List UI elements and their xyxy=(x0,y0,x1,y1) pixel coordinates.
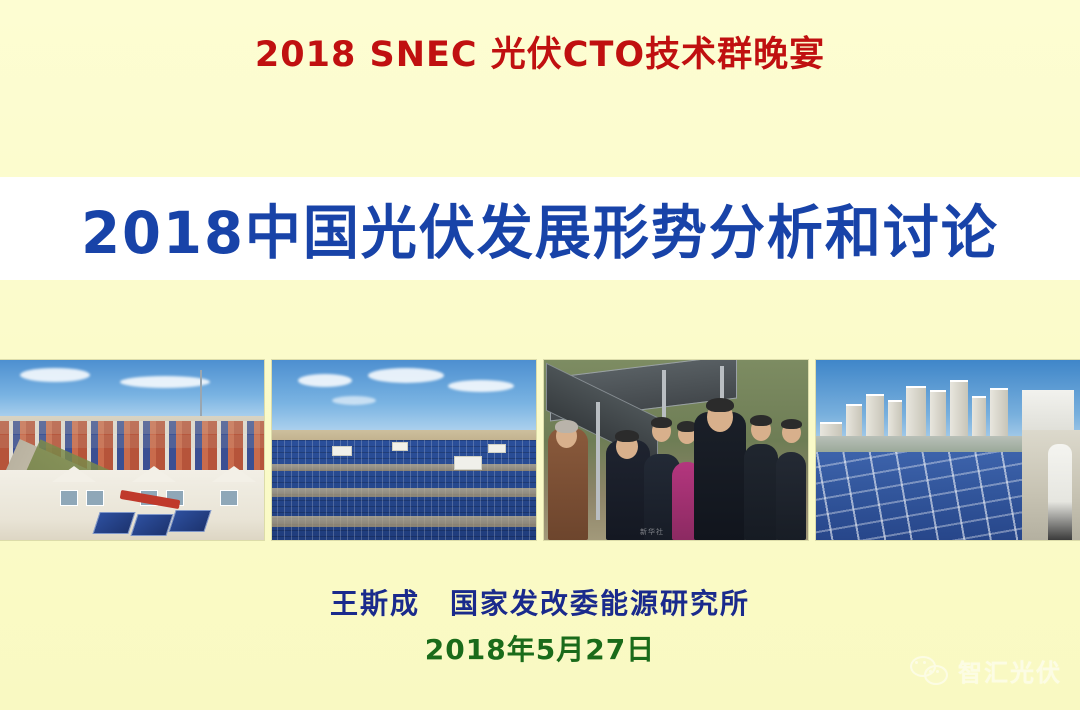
person-hair xyxy=(750,415,772,426)
bubble-dot xyxy=(923,661,926,664)
presentation-slide: 2018 SNEC 光伏CTO技术群晚宴 2018中国光伏发展形势分析和讨论 xyxy=(0,0,1080,710)
inverter-shed xyxy=(488,444,506,453)
service-row xyxy=(272,516,536,527)
presenter-line: 王斯成 国家发改委能源研究所 xyxy=(0,582,1080,622)
roof-row xyxy=(0,421,264,435)
photo-inner-watermark: 新华社 xyxy=(640,527,664,537)
main-title-band: 2018中国光伏发展形势分析和讨论 xyxy=(0,177,1080,280)
inverter-shed xyxy=(332,446,352,456)
cloud-shape xyxy=(120,376,210,388)
wechat-bubble-icon xyxy=(910,656,950,686)
house-gable xyxy=(52,466,96,482)
photo-officials-rural-visit: 新华社 xyxy=(544,360,808,540)
photo-commercial-rooftop-city xyxy=(816,360,1080,540)
support-post xyxy=(596,402,600,520)
pv-panel xyxy=(130,514,173,536)
event-title-text: 2018 SNEC 光伏CTO技术群晚宴 xyxy=(255,35,825,75)
person-figure xyxy=(1048,444,1072,540)
cloud-shape xyxy=(368,368,444,383)
bubble-dot xyxy=(929,670,932,673)
cloud-shape xyxy=(20,368,90,382)
inverter-shed xyxy=(392,442,408,451)
person-hair xyxy=(781,419,802,429)
service-row xyxy=(272,464,536,471)
channel-watermark: 智汇光伏 xyxy=(910,653,1062,688)
photo-strip: 新华社 xyxy=(0,360,1080,540)
antenna-tower xyxy=(200,370,202,416)
main-title-text: 2018中国光伏发展形势分析和讨论 xyxy=(81,186,999,270)
cloud-shape xyxy=(298,374,352,387)
official-figure xyxy=(744,444,778,540)
photo-utility-scale-desert-farm xyxy=(272,360,536,540)
person-hair xyxy=(615,430,639,442)
house-gable xyxy=(212,466,256,482)
person-hair xyxy=(651,417,672,428)
person-hair xyxy=(555,420,578,433)
house-window xyxy=(60,490,78,506)
bubble-small xyxy=(924,665,948,685)
service-row xyxy=(272,488,536,497)
watermark-text: 智汇光伏 xyxy=(958,653,1062,688)
pv-panel xyxy=(168,510,211,532)
support-post xyxy=(662,370,666,420)
cloud-shape xyxy=(332,396,376,405)
bubble-dot xyxy=(915,661,918,664)
pv-panel xyxy=(92,512,135,534)
person-hair xyxy=(706,398,734,412)
official-figure xyxy=(776,452,806,540)
photo-residential-rooftop-village xyxy=(0,360,264,540)
bubble-dot xyxy=(936,670,939,673)
inverter-shed xyxy=(454,456,482,470)
house-window xyxy=(86,490,104,506)
cloud-shape xyxy=(448,380,514,392)
house-gable xyxy=(132,466,176,482)
house-window xyxy=(220,490,238,506)
event-title: 2018 SNEC 光伏CTO技术群晚宴 xyxy=(0,36,1080,75)
